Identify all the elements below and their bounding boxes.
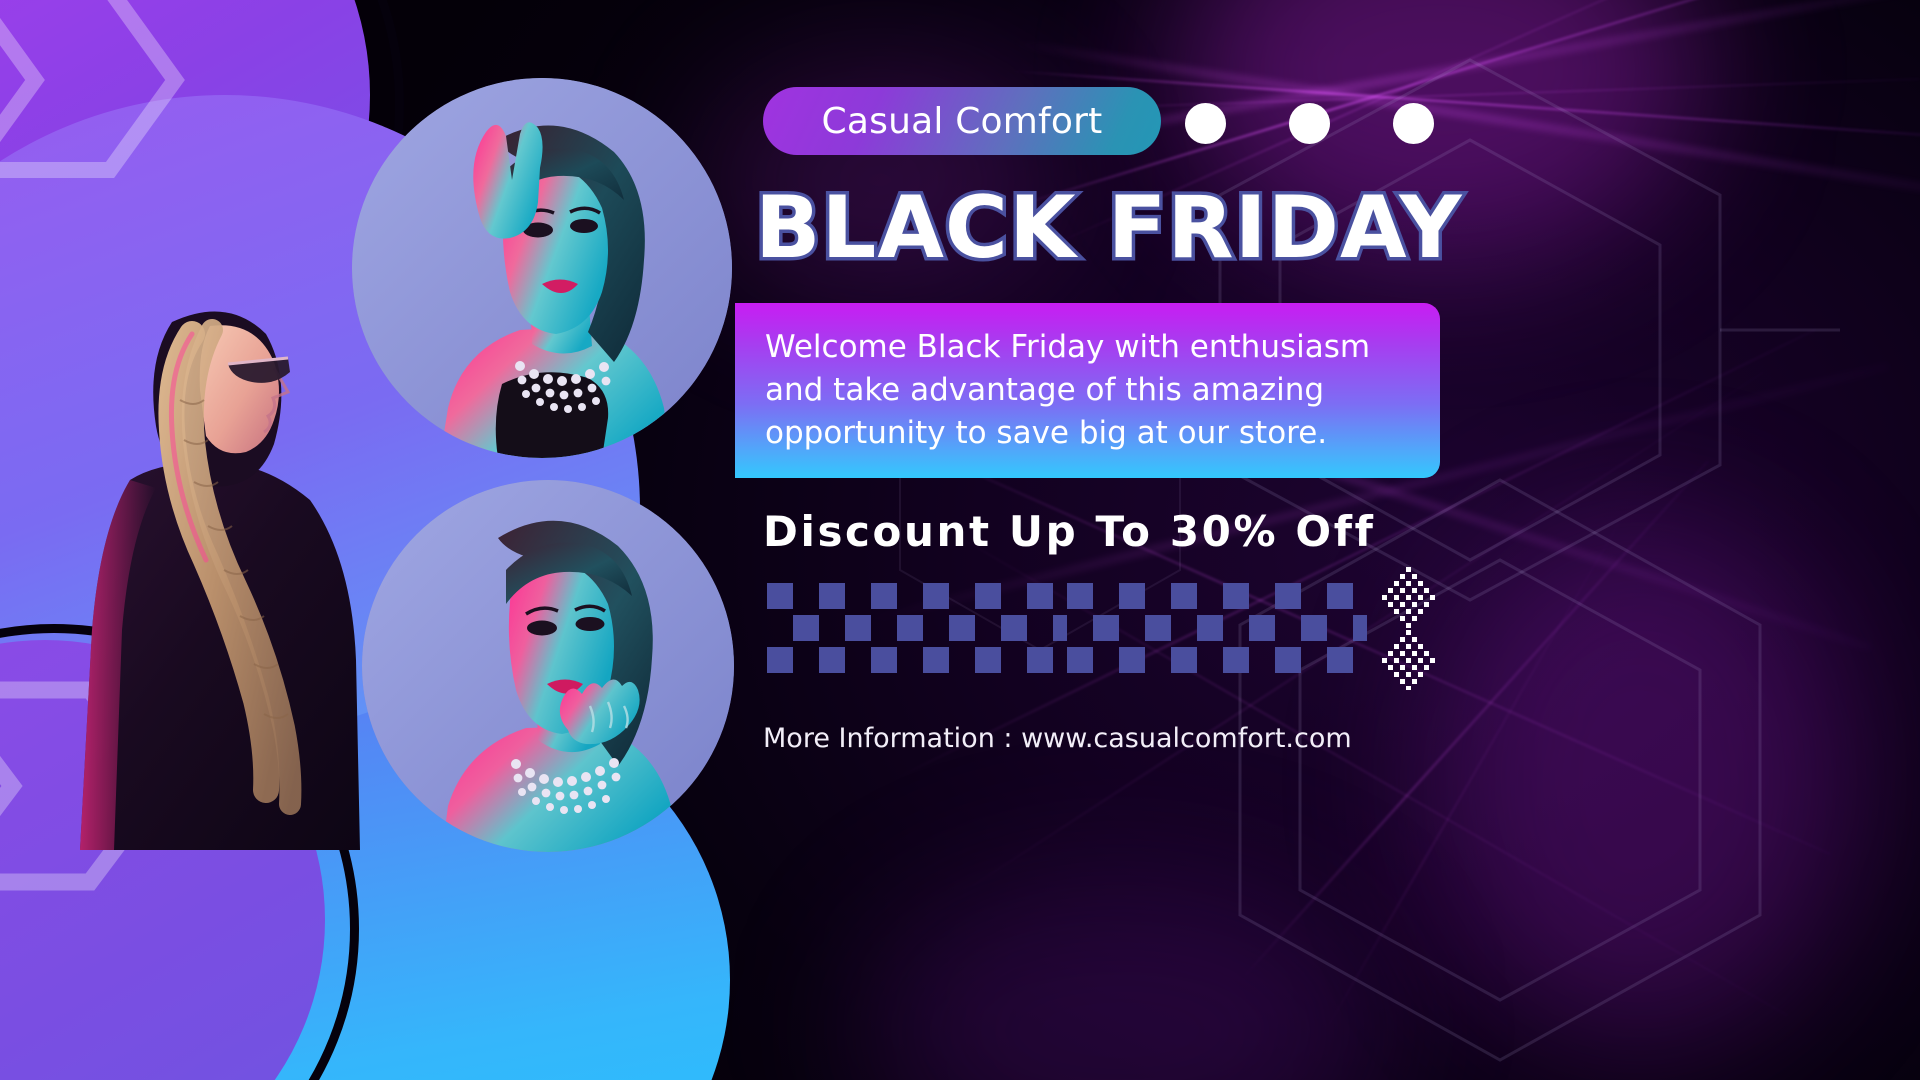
checkerboard-pattern-right (1067, 583, 1367, 693)
decorative-dot (1393, 103, 1434, 144)
discount-headline: Discount Up To 30% Off (763, 500, 1443, 562)
more-information-text: More Information : www.casualcomfort.com (763, 723, 1352, 754)
model-portrait-bottom (362, 480, 734, 852)
brand-badge-label: Casual Comfort (822, 101, 1103, 142)
headline-text: BLACK FRIDAY (755, 185, 1463, 271)
decorative-dot (1185, 103, 1226, 144)
description-text: Welcome Black Friday with enthusiasm and… (765, 326, 1385, 454)
page-title: BLACK FRIDAY (755, 178, 1455, 278)
discount-text: Discount Up To 30% Off (763, 507, 1375, 556)
chevron-arrow-icon (0, 0, 190, 180)
description-panel: Welcome Black Friday with enthusiasm and… (735, 303, 1440, 478)
checkerboard-pattern-left (767, 583, 1067, 693)
diamond-dot-ornament (1375, 565, 1445, 695)
decorative-dots-group (1185, 103, 1434, 144)
model-portrait-top (352, 78, 732, 458)
promo-content-column: Casual Comfort BLACK FRIDAY Welcome Blac… (755, 0, 1920, 1080)
brand-badge[interactable]: Casual Comfort (763, 87, 1161, 155)
more-information-line[interactable]: More Information : www.casualcomfort.com (763, 718, 1463, 758)
decorative-dot (1289, 103, 1330, 144)
black-friday-promo-banner: Casual Comfort BLACK FRIDAY Welcome Blac… (0, 0, 1920, 1080)
